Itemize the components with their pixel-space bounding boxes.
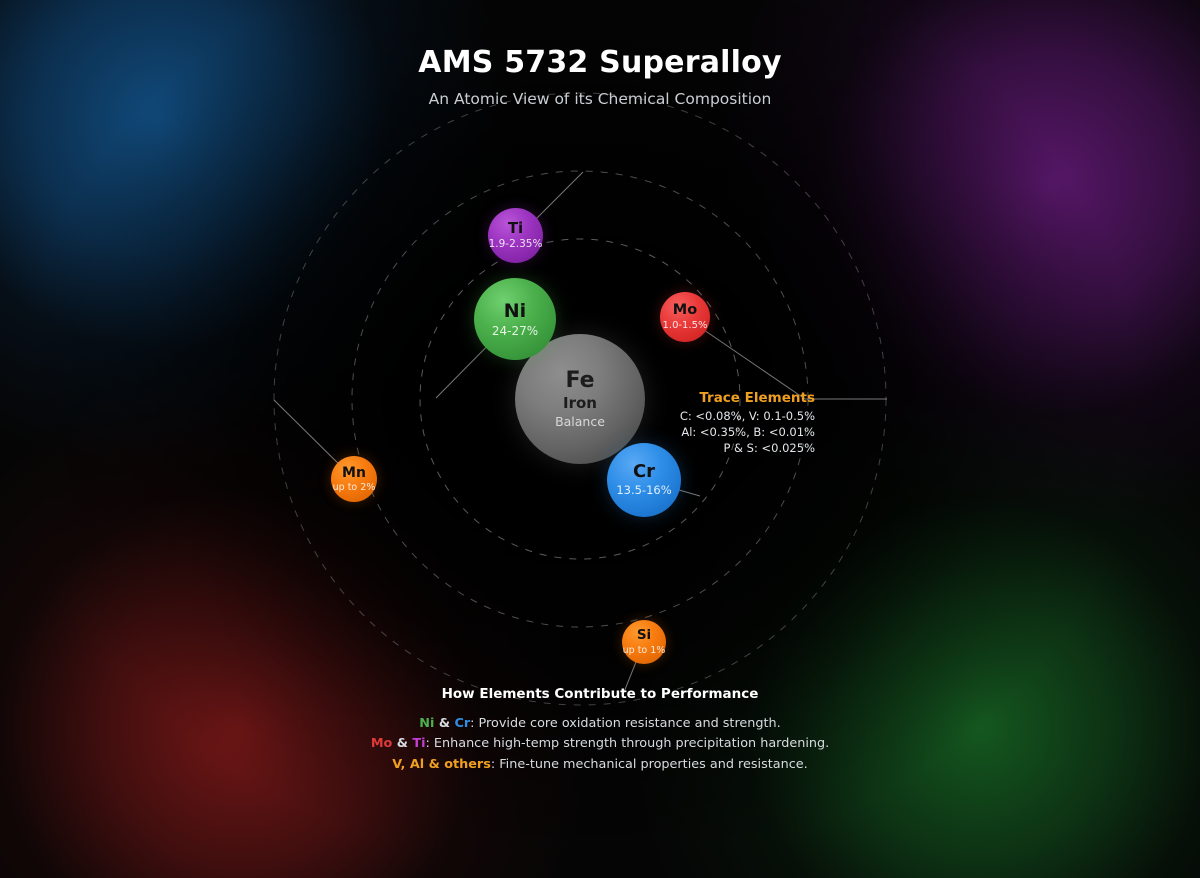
trace-elements-title: Trace Elements [635,390,815,407]
legend-element-token: V, Al & others [392,757,491,772]
element-amount-cr: 13.5-16% [616,485,671,497]
element-symbol-mn: Mn [342,466,366,480]
trace-elements-callout: Trace Elements C: <0.08%, V: 0.1-0.5% Al… [635,390,815,456]
legend-title: How Elements Contribute to Performance [0,686,1200,702]
element-amount-ti: 1.9-2.35% [489,239,543,250]
element-symbol-ni: Ni [504,302,526,321]
legend-element-token: Ni [419,716,434,731]
nucleus-name: Iron [563,396,597,411]
element-bubble-mn[interactable]: Mn up to 2% [331,456,377,502]
element-bubble-mo[interactable]: Mo 1.0-1.5% [660,292,710,342]
legend-row-others: V, Al & others: Fine-tune mechanical pro… [0,755,1200,775]
trace-elements-line-3: P & S: <0.025% [635,441,815,457]
performance-legend: How Elements Contribute to Performance N… [0,686,1200,775]
element-amount-si: up to 1% [623,646,666,656]
legend-element-token: & [392,736,412,751]
element-symbol-cr: Cr [633,463,655,481]
legend-element-token: & [434,716,454,731]
element-symbol-si: Si [637,629,651,643]
element-bubble-si[interactable]: Si up to 1% [622,620,666,664]
page-title: AMS 5732 Superalloy [0,46,1200,81]
page-header: AMS 5732 Superalloy An Atomic View of it… [0,46,1200,108]
trace-elements-line-2: Al: <0.35%, B: <0.01% [635,425,815,441]
legend-description: : Provide core oxidation resistance and … [470,716,781,731]
page-subtitle: An Atomic View of its Chemical Compositi… [0,90,1200,109]
legend-element-token: Mo [371,736,393,751]
infographic-canvas: AMS 5732 Superalloy An Atomic View of it… [0,0,1200,878]
legend-element-token: Ti [412,736,425,751]
legend-description: : Enhance high-temp strength through pre… [426,736,830,751]
trace-elements-line-1: C: <0.08%, V: 0.1-0.5% [635,409,815,425]
legend-description: : Fine-tune mechanical properties and re… [491,757,808,772]
legend-row-ni-cr: Ni & Cr: Provide core oxidation resistan… [0,714,1200,734]
legend-row-mo-ti: Mo & Ti: Enhance high-temp strength thro… [0,734,1200,754]
element-symbol-ti: Ti [508,221,523,236]
element-bubble-ti[interactable]: Ti 1.9-2.35% [488,208,543,263]
element-amount-ni: 24-27% [492,325,538,337]
element-amount-mn: up to 2% [333,483,376,493]
nucleus-amount: Balance [555,416,605,429]
legend-element-token: Cr [454,716,470,731]
element-symbol-mo: Mo [673,303,697,318]
nucleus-symbol: Fe [565,370,594,392]
element-amount-mo: 1.0-1.5% [663,321,708,331]
element-bubble-ni[interactable]: Ni 24-27% [474,278,556,360]
